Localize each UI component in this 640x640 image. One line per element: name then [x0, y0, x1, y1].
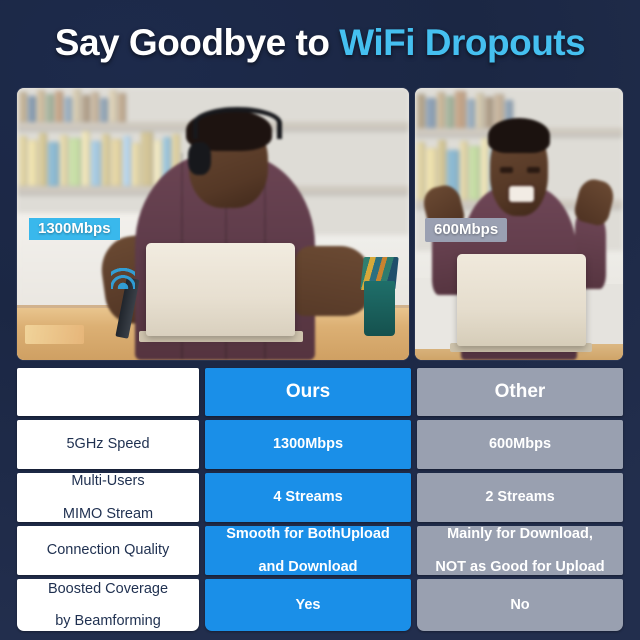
row-label-mimo-line2: MIMO Stream — [57, 506, 159, 522]
row-label-bc-line1: Boosted Coverage — [42, 581, 174, 597]
row-label-boosted-coverage: Boosted Coverage by Beamforming — [17, 579, 199, 631]
page-title: Say Goodbye to WiFi Dropouts — [0, 21, 640, 65]
right-eye — [527, 167, 539, 173]
badge-speed-ours: 1300Mbps — [29, 218, 120, 240]
row-value-ours-5ghz-speed: 1300Mbps — [205, 420, 411, 469]
row-label-5ghz-speed: 5GHz Speed — [17, 420, 199, 469]
table-row: Boosted Coverage by Beamforming Yes No — [17, 579, 623, 631]
row-value-other-mimo-stream: 2 Streams — [417, 473, 623, 522]
laptop — [457, 254, 586, 346]
table-row: 5GHz Speed 1300Mbps 600Mbps — [17, 420, 623, 469]
left-eye — [500, 167, 512, 173]
right-arm — [295, 246, 369, 317]
row-value-ours-mimo-stream: 4 Streams — [205, 473, 411, 522]
badge-speed-other: 600Mbps — [425, 218, 507, 242]
row-label-connection-quality: Connection Quality — [17, 526, 199, 575]
row-value-other-5ghz-speed: 600Mbps — [417, 420, 623, 469]
row-label-mimo-line1: Multi-Users — [57, 473, 159, 489]
row-value-ours-cq-line1: Smooth for BothUpload — [220, 526, 396, 542]
product-infographic: Say Goodbye to WiFi Dropouts — [0, 0, 640, 640]
row-value-ours-boosted-coverage: Yes — [205, 579, 411, 631]
header-cell-other: Other — [417, 368, 623, 416]
comparison-table: Ours Other 5GHz Speed 1300Mbps 600Mbps M… — [17, 368, 623, 631]
table-header-row: Ours Other — [17, 368, 623, 416]
table-row: Connection Quality Smooth for BothUpload… — [17, 526, 623, 575]
laptop — [146, 243, 295, 335]
photo-other: 600Mbps — [415, 88, 623, 360]
right-hand — [573, 177, 618, 228]
wifi-signal-icon — [111, 268, 135, 290]
row-value-other-cq-line1: Mainly for Download, — [429, 526, 610, 542]
row-value-other-connection-quality: Mainly for Download, NOT as Good for Upl… — [417, 526, 623, 575]
photo-ours: 1300Mbps — [17, 88, 409, 360]
header-cell-blank — [17, 368, 199, 416]
headline-white-part: Say Goodbye to — [55, 22, 330, 63]
row-value-ours-cq-line2: and Download — [220, 559, 396, 575]
row-label-bc-line2: by Beamforming — [42, 613, 174, 629]
headphones-icon — [193, 107, 281, 139]
row-value-other-boosted-coverage: No — [417, 579, 623, 631]
pen-holder — [364, 281, 395, 335]
headline-blue-part: WiFi Dropouts — [339, 22, 585, 63]
row-value-ours-connection-quality: Smooth for BothUpload and Download — [205, 526, 411, 575]
mouth — [509, 186, 534, 202]
header-cell-ours: Ours — [205, 368, 411, 416]
row-value-other-cq-line2: NOT as Good for Upload — [429, 559, 610, 575]
headphone-earcup — [188, 142, 212, 175]
desk-paper — [25, 325, 84, 344]
hair — [488, 118, 550, 153]
photo-row: 1300Mbps — [17, 88, 623, 360]
row-label-mimo-stream: Multi-Users MIMO Stream — [17, 473, 199, 522]
table-row: Multi-Users MIMO Stream 4 Streams 2 Stre… — [17, 473, 623, 522]
